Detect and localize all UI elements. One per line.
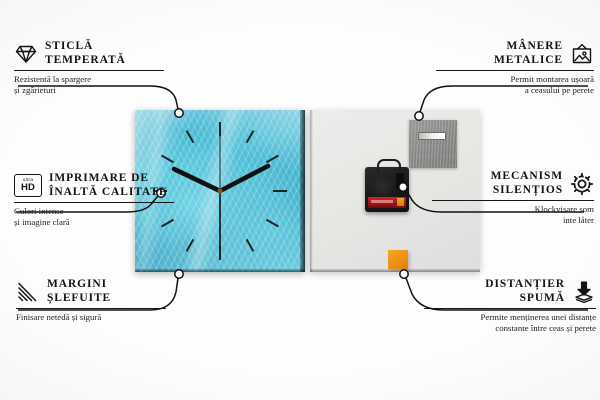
callout-margini-slefuite: MARGINI ȘLEFUITE Finisare netedă și sigu… [16,278,166,323]
callout-header: MARGINI ȘLEFUITE [16,278,166,305]
callout-header: DISTANȚIER SPUMĂ [424,278,596,305]
connector-endpoint-distantier [400,270,408,278]
down-arrow-stack-icon [572,280,596,304]
connector-endpoint-mecanism [399,183,407,191]
callout-title: MECANISM SILENȚIOS [491,170,563,197]
callout-description-line2: și imagine clară [14,217,174,228]
infographic-canvas: STICLĂ TEMPERATĂ Rezistentă la spargere … [0,0,600,400]
callout-divider [432,200,594,201]
connector-endpoint-sticla [175,109,183,117]
callout-divider [14,70,164,71]
callout-description-line1: Rezistentă la spargere [14,74,164,85]
callout-description-line2: a ceasului pe perete [436,85,594,96]
callout-title: IMPRIMARE DE ÎNALTĂ CALITATE [49,172,167,199]
callout-description-line1: Permite menținerea unei distanțe [424,312,596,323]
callout-header: MECANISM SILENȚIOS [432,170,594,197]
ultra-hd-icon-main-text: HD [21,183,35,193]
callout-description-line2: constante între ceas și perete [424,323,596,334]
callout-divider [436,70,594,71]
framed-picture-hook-icon [570,42,594,66]
callout-description-line1: Culori intense [14,206,174,217]
callout-title: MARGINI ȘLEFUITE [47,278,111,305]
callout-description-line1: Finisare netedă și sigură [16,312,166,323]
callout-title: MÂNERE METALICE [494,40,563,67]
connector-endpoint-margini [175,270,183,278]
callout-description-line1: Permit montarea ușoară [436,74,594,85]
callout-distantier-spuma: DISTANȚIER SPUMĂ Permite menținerea unei… [424,278,596,334]
callout-sticla-temperata: STICLĂ TEMPERATĂ Rezistentă la spargere … [14,40,164,96]
callout-manere-metalice: MÂNERE METALICE Permit montarea ușoară a… [436,40,594,96]
callout-title: STICLĂ TEMPERATĂ [45,40,126,67]
ultra-hd-icon: ultra HD [14,174,42,197]
callout-divider [14,202,174,203]
callout-header: MÂNERE METALICE [436,40,594,67]
callout-description-line1: Klockvisare som [432,204,594,215]
hatched-edge-icon [16,280,40,304]
callout-header: STICLĂ TEMPERATĂ [14,40,164,67]
callout-title: DISTANȚIER SPUMĂ [485,278,565,305]
callout-description-line2: inte låter [432,215,594,226]
callout-imprimare-calitate: ultra HD IMPRIMARE DE ÎNALTĂ CALITATE Cu… [14,172,174,228]
callout-description-line2: și zgârieturi [14,85,164,96]
callout-divider [424,308,596,309]
connector-endpoint-manere [415,112,423,120]
diamond-icon [14,42,38,66]
gear-icon [570,172,594,196]
callout-mecanism-silentios: MECANISM SILENȚIOS Klockvisare som inte … [432,170,594,226]
callout-divider [16,308,166,309]
callout-header: ultra HD IMPRIMARE DE ÎNALTĂ CALITATE [14,172,174,199]
